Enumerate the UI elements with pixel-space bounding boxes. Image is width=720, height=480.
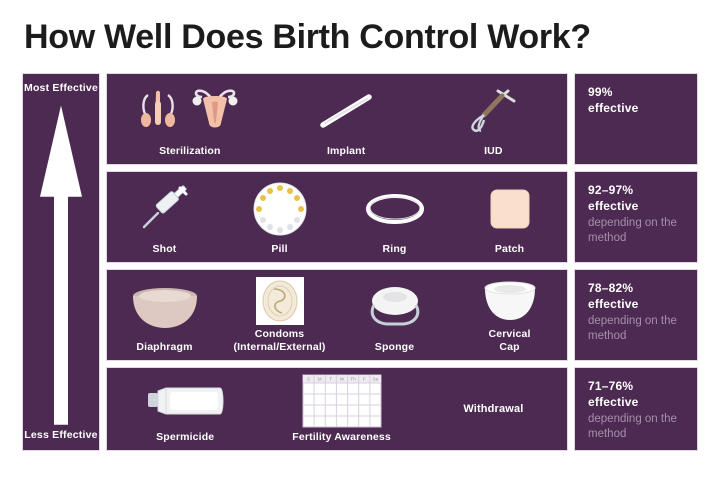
method-cell-sponge[interactable]: Sponge (337, 270, 452, 360)
svg-text:Sa: Sa (372, 377, 378, 382)
scale-arrow-wrap (39, 99, 83, 425)
effectiveness-cell-tier-3: 78–82% effective depending on the method (574, 269, 698, 361)
page-title: How Well Does Birth Control Work? (24, 18, 591, 57)
method-label: Pill (271, 243, 287, 255)
infographic-page: How Well Does Birth Control Work? Most E… (0, 0, 720, 480)
effectiveness-percent: 78–82% (588, 281, 697, 297)
methods-column: Sterilization Implant (106, 73, 568, 451)
sponge-icon (337, 270, 452, 341)
method-cell-withdrawal[interactable]: Withdrawal (420, 368, 567, 450)
method-row-tier-1: Sterilization Implant (106, 73, 568, 165)
method-label: Shot (153, 243, 177, 255)
method-cell-cervical-cap[interactable]: Cervical Cap (452, 270, 567, 360)
effectiveness-scale-column: Most Effective Less Effective (22, 73, 100, 451)
method-row-tier-4: Spermicide (106, 367, 568, 451)
iud-icon (420, 74, 567, 145)
method-row-tier-3: Diaphragm Condoms (Internal/External) (106, 269, 568, 361)
method-label: Diaphragm (136, 341, 192, 353)
effectiveness-cell-tier-1: 99% effective (574, 73, 698, 165)
method-cell-sterilization[interactable]: Sterilization (107, 74, 273, 164)
effectiveness-percent: 99% (588, 85, 697, 101)
method-cell-condoms[interactable]: Condoms (Internal/External) (222, 270, 337, 360)
method-cell-diaphragm[interactable]: Diaphragm (107, 270, 222, 360)
condom-icon (222, 270, 337, 328)
method-label: Fertility Awareness (292, 431, 391, 443)
method-label: Withdrawal (463, 403, 523, 416)
method-cell-spermicide[interactable]: Spermicide (107, 368, 263, 450)
method-label: Spermicide (156, 431, 214, 443)
method-row-tier-2: Shot (106, 171, 568, 263)
scale-top-label: Most Effective (24, 82, 98, 95)
method-label: Condoms (Internal/External) (233, 328, 325, 353)
method-label: Patch (495, 243, 524, 255)
svg-text:F: F (362, 377, 365, 382)
method-label: Cervical Cap (488, 328, 530, 353)
effectiveness-word: effective (588, 395, 697, 411)
method-cell-shot[interactable]: Shot (107, 172, 222, 262)
method-label: IUD (484, 145, 503, 157)
effectiveness-chart: Most Effective Less Effective (22, 73, 698, 451)
effectiveness-note: depending on the method (588, 314, 697, 344)
diaphragm-icon (107, 270, 222, 341)
method-label: Sterilization (159, 145, 220, 157)
effectiveness-percent: 92–97% (588, 183, 697, 199)
method-label: Ring (383, 243, 407, 255)
vaginal-ring-icon (337, 172, 452, 243)
spermicide-tube-icon (107, 368, 263, 431)
effectiveness-note: depending on the method (588, 412, 697, 442)
effectiveness-percent: 71–76% (588, 379, 697, 395)
method-cell-implant[interactable]: Implant (273, 74, 420, 164)
calendar-icon: S M T W Th F Sa (263, 368, 419, 431)
up-arrow-icon (39, 99, 83, 425)
method-label: Sponge (375, 341, 414, 353)
svg-text:S: S (307, 377, 310, 382)
effectiveness-cell-tier-4: 71–76% effective depending on the method (574, 367, 698, 451)
effectiveness-word: effective (588, 297, 697, 313)
reproductive-anatomy-icon (107, 74, 273, 145)
effectiveness-word: effective (588, 101, 697, 117)
svg-text:Th: Th (350, 377, 356, 382)
svg-text:T: T (329, 377, 332, 382)
method-cell-ring[interactable]: Ring (337, 172, 452, 262)
method-cell-iud[interactable]: IUD (420, 74, 567, 164)
effectiveness-column: 99% effective 92–97% effective depending… (574, 73, 698, 451)
effectiveness-cell-tier-2: 92–97% effective depending on the method (574, 171, 698, 263)
method-cell-fertility-awareness[interactable]: S M T W Th F Sa Fertility Awareness (263, 368, 419, 450)
method-cell-patch[interactable]: Patch (452, 172, 567, 262)
method-label: Implant (327, 145, 365, 157)
syringe-icon (107, 172, 222, 243)
svg-text:M: M (317, 377, 321, 382)
patch-icon (452, 172, 567, 243)
effectiveness-word: effective (588, 199, 697, 215)
method-cell-pill[interactable]: Pill (222, 172, 337, 262)
pill-pack-icon (222, 172, 337, 243)
svg-text:W: W (339, 377, 344, 382)
implant-rod-icon (273, 74, 420, 145)
scale-bottom-label: Less Effective (24, 429, 97, 442)
effectiveness-note: depending on the method (588, 216, 697, 246)
cervical-cap-icon (452, 270, 567, 328)
